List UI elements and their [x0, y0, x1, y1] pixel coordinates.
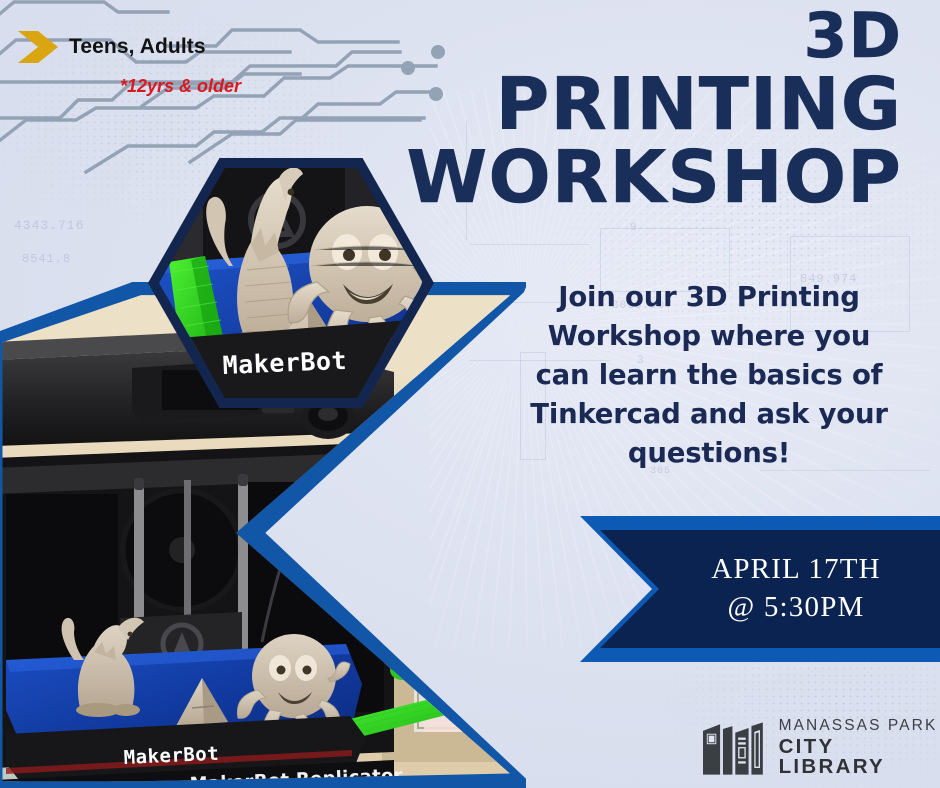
hexagon-inset-photo: MakerBot — [148, 158, 434, 408]
logo-wordmark: MANASSAS PARK CITY LIBRARY — [779, 718, 940, 778]
description-line-5: questions! — [508, 434, 910, 473]
library-books-icon — [703, 719, 768, 777]
description-line-1: Join our 3D Printing — [508, 278, 910, 317]
age-restriction-note: *12yrs & older — [120, 76, 241, 97]
description-line-3: can learn the basics of — [508, 356, 910, 395]
description-line-4: Tinkercad and ask your — [508, 395, 910, 434]
description-text: Join our 3D Printing Workshop where you … — [508, 278, 910, 473]
event-date: APRIL 17TH — [711, 551, 881, 589]
event-time: @ 5:30PM — [727, 589, 864, 627]
gold-chevron-icon — [16, 30, 60, 64]
logo-line-2: CITY LIBRARY — [779, 737, 940, 778]
hexagon-makerbot-caption: MakerBot — [222, 346, 348, 380]
library-logo: MANASSAS PARK CITY LIBRARY — [703, 718, 940, 778]
date-banner: APRIL 17TH @ 5:30PM — [600, 530, 940, 648]
logo-line-1: MANASSAS PARK — [779, 718, 940, 734]
audience-label: Teens, Adults — [69, 35, 206, 59]
description-line-2: Workshop where you — [508, 317, 910, 356]
makerbot-plate-caption: MakerBot — [123, 743, 219, 769]
poster-canvas: 4343.716 8541.8 849.974 3053.907 305 9 3… — [0, 0, 940, 788]
title-line-1: 3D — [372, 6, 902, 66]
audience-row: Teens, Adults — [16, 30, 206, 64]
hud-tick — [470, 244, 590, 245]
page-title: 3D PRINTING WORKSHOP — [382, 6, 902, 212]
title-line-2: PRINTING — [372, 70, 902, 139]
hud-number: 4343.716 — [14, 218, 84, 233]
title-line-3: WORKSHOP — [372, 143, 902, 212]
hud-number: 9 — [630, 222, 638, 234]
hud-number: 8541.8 — [22, 252, 71, 266]
